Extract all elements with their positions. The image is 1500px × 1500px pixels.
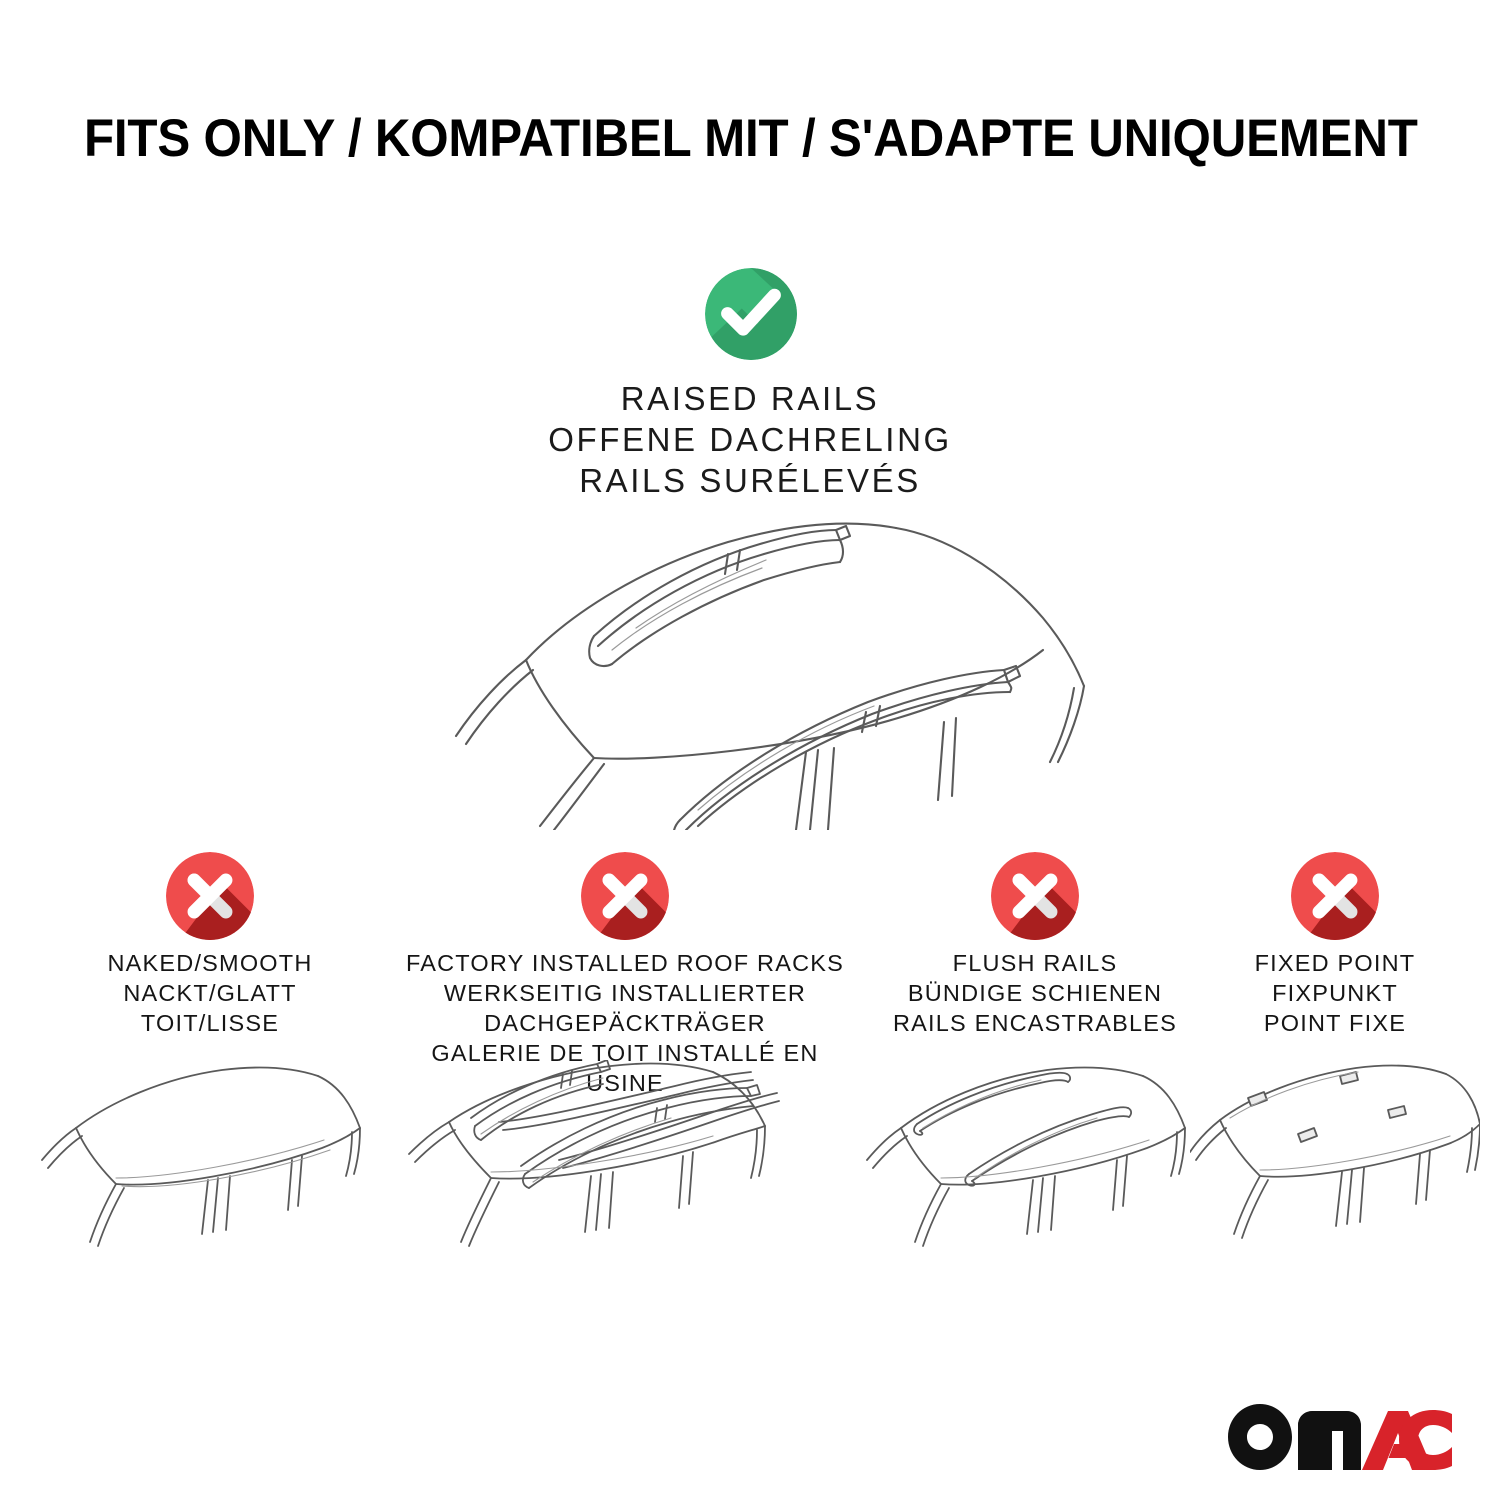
x-circle-icon [991,852,1079,940]
reject-label-line-1: FIXED POINT [1190,948,1480,978]
reject-label-line-3: DACHGEPÄCKTRÄGER [395,1008,855,1038]
car-roof-raised-rails-illustration [398,500,1102,830]
x-circle-icon [581,852,669,940]
reject-label-line-1: FLUSH RAILS [865,948,1205,978]
omac-logo [1228,1404,1452,1470]
reject-label: FIXED POINT FIXPUNKT POINT FIXE [1190,948,1480,1038]
reject-label-line-2: FIXPUNKT [1190,978,1480,1008]
page-title: FITS ONLY / KOMPATIBEL MIT / S'ADAPTE UN… [84,108,1330,170]
reject-label-line-2: NACKT/GLATT [40,978,380,1008]
x-circle-icon [1291,852,1379,940]
reject-label-line-3: RAILS ENCASTRABLES [865,1008,1205,1038]
approved-label-line-2: OFFENE DACHRELING [450,419,1050,460]
reject-label: NAKED/SMOOTH NACKT/GLATT TOIT/LISSE [40,948,380,1038]
reject-label-line-2: WERKSEITIG INSTALLIERTER [395,978,855,1008]
car-roof-naked-illustration [40,1062,380,1302]
reject-label-line-3: TOIT/LISSE [40,1008,380,1038]
check-circle-icon [705,268,797,360]
reject-label-line-1: NAKED/SMOOTH [40,948,380,978]
car-roof-factory-racks-illustration [395,1060,855,1300]
approved-label: RAISED RAILS OFFENE DACHRELING RAILS SUR… [450,378,1050,501]
reject-label: FLUSH RAILS BÜNDIGE SCHIENEN RAILS ENCAS… [865,948,1205,1038]
approved-label-line-3: RAILS SURÉLEVÉS [450,460,1050,501]
approved-label-line-1: RAISED RAILS [450,378,1050,419]
reject-label-line-3: POINT FIXE [1190,1008,1480,1038]
car-roof-flush-rails-illustration [865,1062,1205,1302]
reject-label-line-1: FACTORY INSTALLED ROOF RACKS [395,948,855,978]
x-circle-icon [166,852,254,940]
car-roof-fixed-point-illustration [1190,1062,1480,1302]
reject-label-line-2: BÜNDIGE SCHIENEN [865,978,1205,1008]
